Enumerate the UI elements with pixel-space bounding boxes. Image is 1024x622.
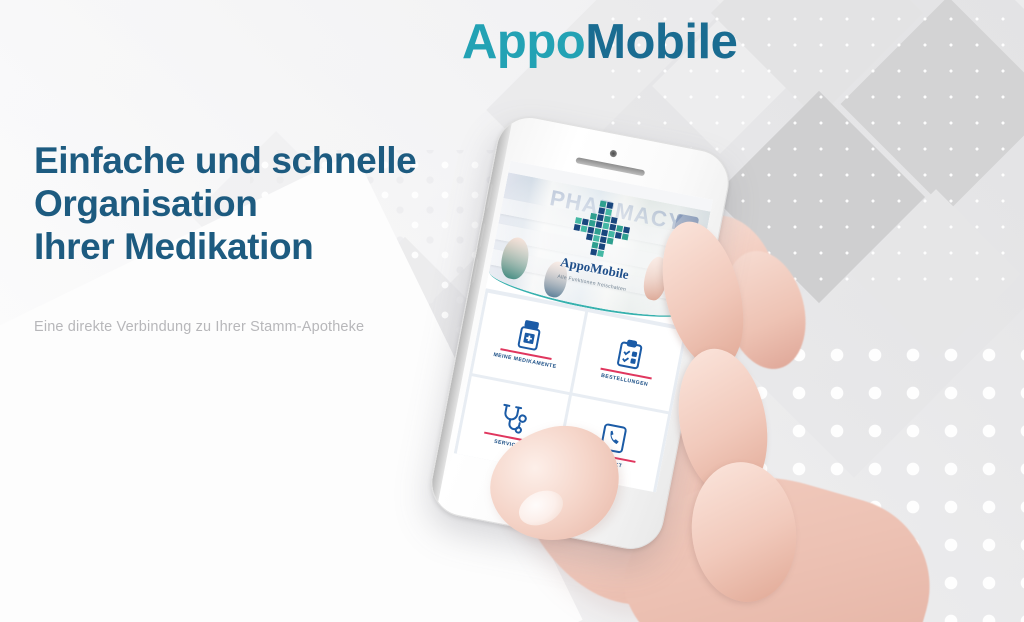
medicine-bottle-icon [513,318,546,353]
diamond-shape [841,0,1024,211]
brand-logo-part-two: Mobile [585,15,737,69]
page-title: Einfache und schnelle Organisation Ihrer… [34,140,416,269]
promo-canvas: AppoMobile Einfache und schnelle Organis… [0,0,1024,622]
clipboard-checklist-icon [613,338,646,373]
stethoscope-icon [496,402,531,437]
pixel-cross-icon [566,194,638,263]
brand-logo: AppoMobile [462,18,737,67]
diamond-shape [711,0,923,119]
hand-holding-phone: PHARMACY [430,110,850,622]
brand-logo-part-one: Appo [462,15,585,69]
earpiece-speaker [575,157,645,176]
page-subtitle: Eine direkte Verbindung zu Ihrer Stamm-A… [34,319,364,335]
diamond-shape [851,189,1021,359]
tile-meine-medikamente[interactable]: MEINE MEDIKAMENTE [472,293,584,392]
tile-bestellungen[interactable]: BESTELLUNGEN [572,312,684,411]
front-camera-icon [609,149,617,157]
